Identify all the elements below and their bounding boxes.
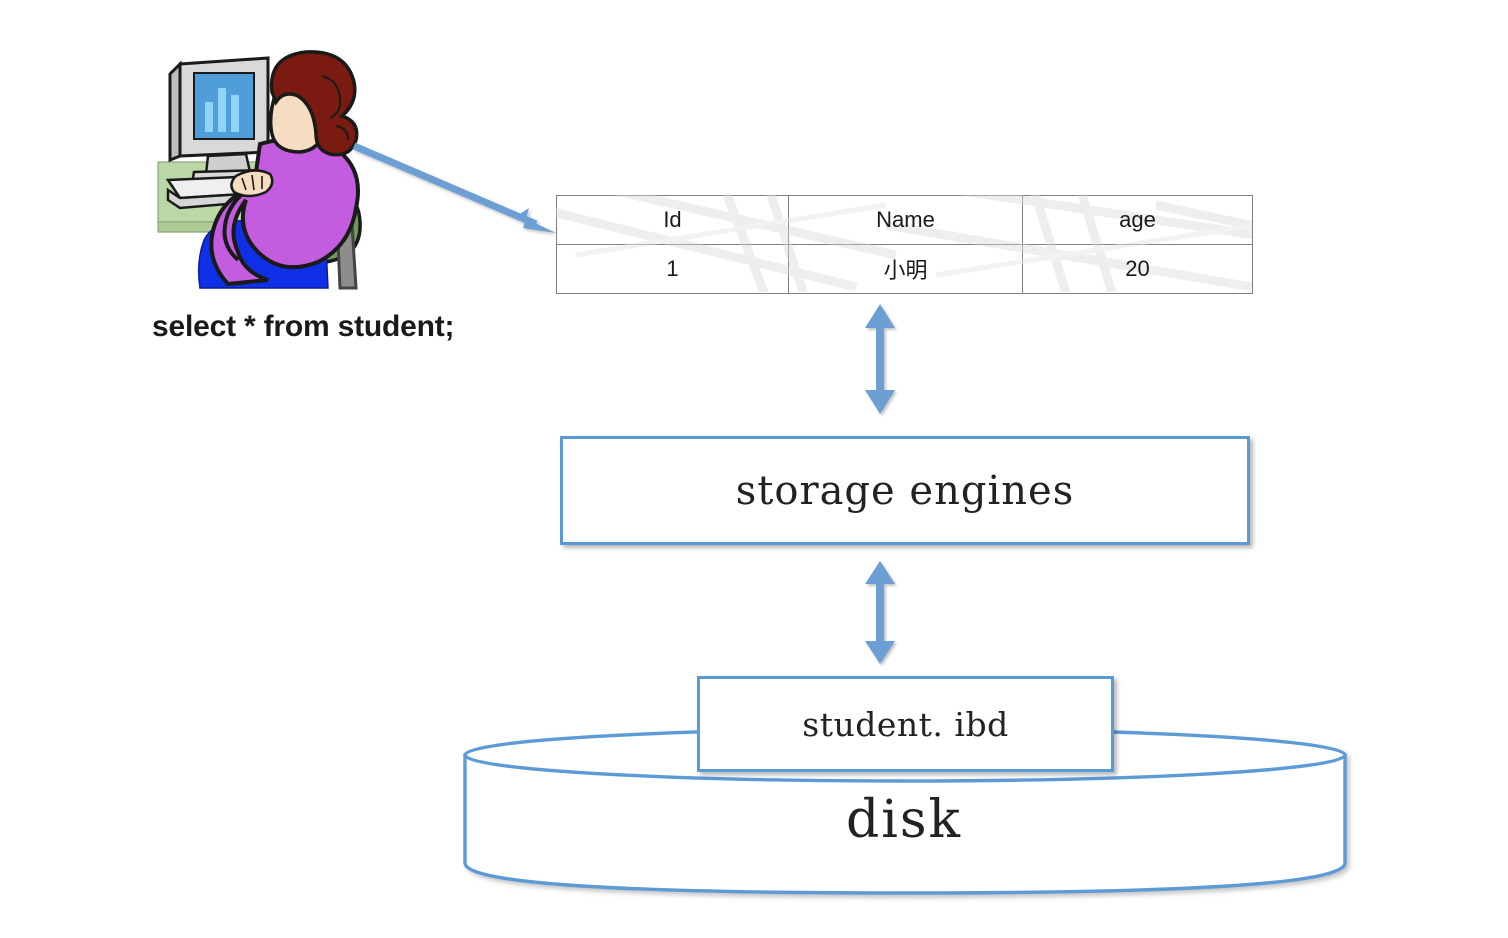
table-header-cell-id: Id <box>557 196 789 245</box>
table-header-cell-age: age <box>1023 196 1253 245</box>
arrow-result-to-storage-icon <box>845 300 915 420</box>
table-header-row: Id Name age <box>557 196 1253 245</box>
student-ibd-box: student. ibd <box>697 676 1114 772</box>
disk-label: disk <box>465 790 1343 850</box>
arrow-storage-to-file-icon <box>845 558 915 670</box>
table-cell-id: 1 <box>557 245 789 294</box>
table-header-cell-name: Name <box>789 196 1023 245</box>
table-cell-age: 20 <box>1023 245 1253 294</box>
query-result-table-container: Id Name age 1 小明 20 <box>556 195 1252 292</box>
sql-query-caption: select * from student; <box>152 310 454 344</box>
student-ibd-label: student. ibd <box>802 705 1008 744</box>
storage-engines-box: storage engines <box>560 436 1250 545</box>
storage-engines-label: storage engines <box>736 468 1074 514</box>
diagram-canvas: select * from student; <box>0 0 1508 938</box>
arrow-query-to-result-icon <box>340 130 570 250</box>
query-result-table: Id Name age 1 小明 20 <box>556 195 1253 294</box>
table-row: 1 小明 20 <box>557 245 1253 294</box>
table-cell-name: 小明 <box>789 245 1023 294</box>
